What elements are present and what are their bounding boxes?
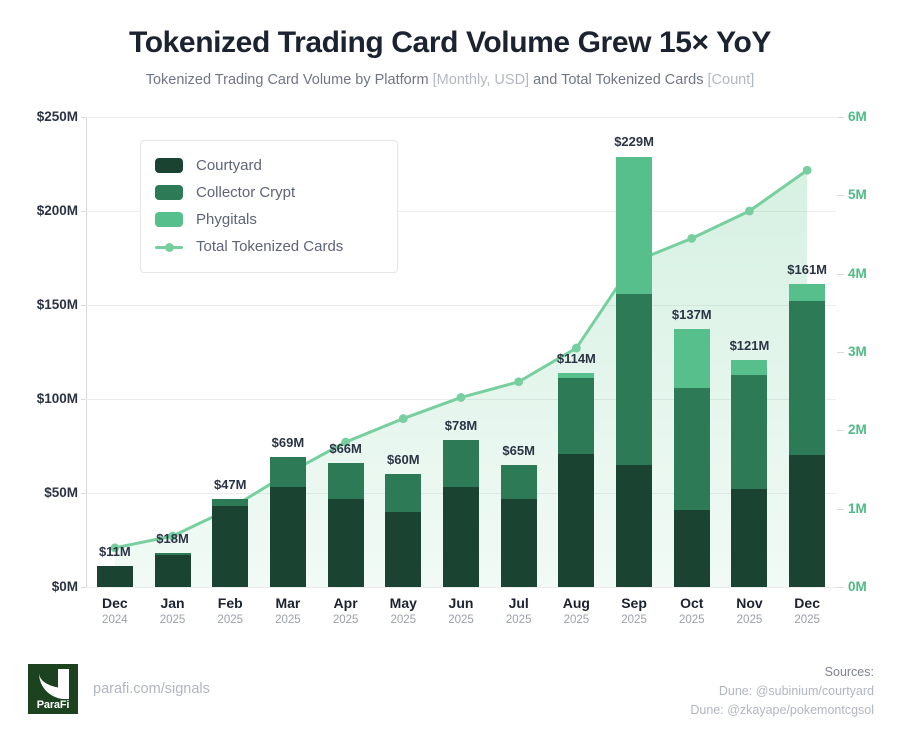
subtitle-unit-usd: [Monthly, USD] [433,72,529,88]
x-tick-month: Jan [144,594,202,612]
bar-segment[interactable] [385,474,421,512]
y-axis-right-tick: 3M [848,344,898,359]
x-tick-year: 2025 [605,612,663,628]
y-axis-left-tick: $100M [10,391,78,406]
logo-wordmark: ParaFi [28,699,78,711]
chart-legend: CourtyardCollector CryptPhygitalsTotal T… [140,140,398,273]
tick-mark [837,274,844,275]
y-axis-left-tick: $150M [10,297,78,312]
x-axis-tick: Oct2025 [663,594,721,628]
tick-mark [837,195,844,196]
page-title: Tokenized Trading Card Volume Grew 15× Y… [0,26,900,60]
bar-segment[interactable] [328,499,364,587]
bar-value-label: $229M [614,134,654,149]
bar-segment[interactable] [443,440,479,487]
bar-stack[interactable]: $137M [674,329,710,587]
x-tick-month: Dec [86,594,144,612]
bar-segment[interactable] [385,512,421,587]
bar-value-label: $47M [214,477,247,492]
x-tick-month: Sep [605,594,663,612]
x-axis-tick: Jun2025 [432,594,490,628]
legend-line-swatch-icon [155,239,183,254]
bar-stack[interactable]: $65M [501,465,537,587]
bar-segment[interactable] [558,454,594,587]
x-axis-tick: Aug2025 [548,594,606,628]
page-subtitle: Tokenized Trading Card Volume by Platfor… [0,72,900,88]
bar-stack[interactable]: $78M [443,440,479,587]
source-item: Dune: @zkayape/pokemontcgsol [690,701,874,720]
y-axis-left-tick: $50M [10,485,78,500]
x-tick-year: 2025 [432,612,490,628]
y-axis-right-tick: 0M [848,579,898,594]
x-axis-tick: Apr2025 [317,594,375,628]
x-tick-month: Aug [548,594,606,612]
bar-segment[interactable] [674,388,710,510]
bar-segment[interactable] [558,378,594,453]
site-url[interactable]: parafi.com/signals [93,681,210,697]
bar-segment[interactable] [674,329,710,387]
y-axis-left-tick: $200M [10,203,78,218]
legend-line-dot [165,243,174,252]
legend-item-label: Courtyard [196,157,262,174]
legend-color-swatch-icon [155,158,183,173]
tick-mark [837,117,844,118]
bar-segment[interactable] [789,284,825,301]
bar-segment[interactable] [789,301,825,455]
legend-item-label: Phygitals [196,211,257,228]
x-axis-tick: Dec2025 [778,594,836,628]
x-tick-year: 2025 [778,612,836,628]
subtitle-unit-count: [Count] [708,72,755,88]
x-axis-tick: Jul2025 [490,594,548,628]
y-axis-right-tick: 1M [848,501,898,516]
tick-mark [837,587,844,588]
bar-segment[interactable] [270,457,306,487]
bar-segment[interactable] [789,455,825,587]
bar-segment[interactable] [616,465,652,587]
bar-segment[interactable] [270,487,306,587]
bar-segment[interactable] [674,510,710,587]
bar-segment[interactable] [328,463,364,499]
tick-mark [837,509,844,510]
x-tick-year: 2025 [548,612,606,628]
x-tick-year: 2025 [201,612,259,628]
x-tick-month: May [374,594,432,612]
bar-stack[interactable]: $229M [616,157,652,588]
x-tick-year: 2025 [490,612,548,628]
bar-segment[interactable] [501,465,537,499]
bar-segment[interactable] [97,566,133,587]
bar-stack[interactable]: $69M [270,457,306,587]
y-axis-right-tick: 5M [848,187,898,202]
bar-segment[interactable] [731,489,767,587]
y-axis-right-tick: 6M [848,109,898,124]
bar-segment[interactable] [443,487,479,587]
legend-item-label: Total Tokenized Cards [196,238,343,255]
x-axis-tick: Feb2025 [201,594,259,628]
bar-value-label: $78M [445,418,478,433]
bar-value-label: $18M [156,531,189,546]
x-tick-year: 2025 [721,612,779,628]
x-tick-year: 2024 [86,612,144,628]
bar-stack[interactable]: $161M [789,284,825,587]
x-axis-tick: Sep2025 [605,594,663,628]
bar-segment[interactable] [616,157,652,294]
legend-item[interactable]: Courtyard [155,152,383,179]
legend-item[interactable]: Total Tokenized Cards [155,233,383,260]
bar-stack[interactable]: $60M [385,474,421,587]
x-tick-year: 2025 [317,612,375,628]
legend-color-swatch-icon [155,212,183,227]
bar-value-label: $60M [387,452,420,467]
chart-page: Tokenized Trading Card Volume Grew 15× Y… [0,0,900,742]
gridline [86,587,836,588]
x-axis-tick: Jan2025 [144,594,202,628]
x-tick-month: Apr [317,594,375,612]
bar-segment[interactable] [731,375,767,490]
bar-value-label: $121M [730,338,770,353]
tick-mark [837,430,844,431]
x-tick-month: Feb [201,594,259,612]
legend-color-swatch-icon [155,185,183,200]
legend-item[interactable]: Phygitals [155,206,383,233]
parafi-logo: ParaFi [28,664,78,714]
bar-stack[interactable]: $121M [731,360,767,587]
bar-segment[interactable] [212,499,248,507]
source-item: Dune: @subinium/courtyard [690,682,874,701]
x-axis-tick: Mar2025 [259,594,317,628]
x-tick-month: Jun [432,594,490,612]
bar-segment[interactable] [731,360,767,375]
y-axis-right-tick: 4M [848,266,898,281]
bar-value-label: $69M [272,435,305,450]
y-axis-right-tick: 2M [848,422,898,437]
sources-block: Sources: Dune: @subinium/courtyard Dune:… [690,663,874,720]
bar-value-label: $161M [787,262,827,277]
sources-heading: Sources: [690,663,874,682]
x-axis-labels: Dec2024Jan2025Feb2025Mar2025Apr2025May20… [86,594,836,640]
bar-stack[interactable]: $47M [212,499,248,587]
legend-item[interactable]: Collector Crypt [155,179,383,206]
bar-stack[interactable]: $66M [328,463,364,587]
bar-stack[interactable]: $18M [155,553,191,587]
bar-value-label: $137M [672,307,712,322]
x-axis-tick: May2025 [374,594,432,628]
bar-segment[interactable] [212,506,248,587]
x-tick-year: 2025 [663,612,721,628]
bar-value-label: $66M [329,441,362,456]
x-tick-month: Dec [778,594,836,612]
y-axis-left-tick: $250M [10,109,78,124]
x-tick-month: Nov [721,594,779,612]
bar-stack[interactable]: $114M [558,373,594,587]
bar-value-label: $11M [99,544,131,559]
bar-value-label: $114M [557,351,596,366]
x-tick-month: Mar [259,594,317,612]
subtitle-text-1: Tokenized Trading Card Volume by Platfor… [146,72,433,88]
subtitle-text-2: and Total Tokenized Cards [529,72,707,88]
logo-swoosh-icon [39,669,69,699]
tick-mark [837,352,844,353]
bar-stack[interactable]: $11M [97,566,133,587]
x-tick-month: Oct [663,594,721,612]
x-tick-year: 2025 [374,612,432,628]
x-axis-tick: Dec2024 [86,594,144,628]
x-tick-year: 2025 [259,612,317,628]
x-axis-tick: Nov2025 [721,594,779,628]
legend-item-label: Collector Crypt [196,184,295,201]
bar-segment[interactable] [616,294,652,465]
bar-segment[interactable] [501,499,537,587]
bar-segment[interactable] [155,555,191,587]
bar-value-label: $65M [502,443,535,458]
y-axis-left-tick: $0M [10,579,78,594]
x-tick-year: 2025 [144,612,202,628]
x-tick-month: Jul [490,594,548,612]
